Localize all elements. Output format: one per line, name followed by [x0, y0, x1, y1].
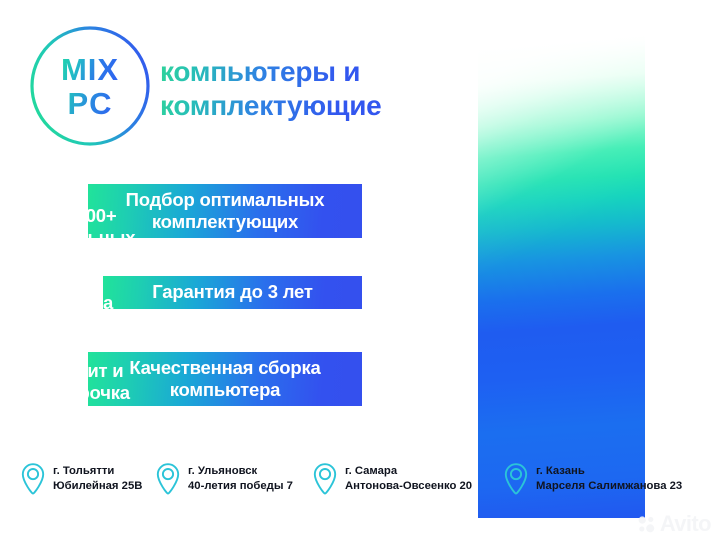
page-title-line2: комплектующие — [160, 89, 470, 123]
map-pin-icon — [503, 462, 529, 496]
location-item-ulyanovsk: г. Ульяновск 40-летия победы 7 — [155, 462, 293, 496]
location-city: г. Казань — [536, 464, 682, 479]
side-panel-item-clients: 10.000+ довольных Клиентов — [0, 205, 167, 270]
side-panel-item-line1: 10.000+ — [51, 205, 117, 226]
feature-banner-line2: комплектующих — [152, 211, 298, 232]
side-panel-item-line2: консультация — [22, 162, 146, 183]
page-title-line1: компьютеры и — [160, 55, 470, 89]
map-pin-icon — [155, 462, 181, 496]
side-panel-item-line1: Услуга — [54, 292, 113, 313]
location-city: г. Ульяновск — [188, 464, 293, 479]
location-address: Юбилейная 25В — [53, 479, 142, 494]
feature-banner-line1: Гарантия до 3 лет — [152, 281, 313, 302]
side-panel — [478, 0, 645, 518]
location-city: г. Тольятти — [53, 464, 142, 479]
side-panel-item-line2: довольных — [32, 227, 136, 248]
location-item-kazan: г. Казань Марселя Салимжанова 23 — [503, 462, 682, 496]
location-text: г. Ульяновск 40-летия победы 7 — [188, 464, 293, 494]
side-panel-item-consultation: Бесплатная консультация — [0, 140, 167, 184]
side-panel-content: Бесплатная консультация 10.000+ довольны… — [0, 0, 167, 518]
side-panel-item-line2: trade-in — [50, 314, 116, 335]
watermark-label: Avito — [660, 513, 711, 535]
location-address: 40-летия победы 7 — [188, 479, 293, 494]
page-title: компьютеры и комплектующие — [160, 55, 470, 123]
side-panel-item-credit: Кредит и рассрочка — [0, 360, 167, 404]
location-city: г. Самара — [345, 464, 472, 479]
feature-banner-line2: компьютера — [170, 379, 281, 400]
location-item-tolyatti: г. Тольятти Юбилейная 25В — [20, 462, 142, 496]
watermark: Avito — [637, 513, 711, 535]
side-panel-item-line3: Клиентов — [41, 249, 127, 270]
location-text: г. Самара Антонова-Овсеенко 20 — [345, 464, 472, 494]
avito-logo-icon — [637, 515, 656, 534]
map-pin-icon — [312, 462, 338, 496]
side-panel-item-line2: рассрочка — [37, 382, 130, 403]
side-panel-item-line1: Кредит и — [44, 360, 124, 381]
location-text: г. Казань Марселя Салимжанова 23 — [536, 464, 682, 494]
location-text: г. Тольятти Юбилейная 25В — [53, 464, 142, 494]
side-panel-item-tradein: Услуга trade-in — [0, 292, 167, 336]
side-panel-item-line1: Бесплатная — [30, 140, 136, 161]
map-pin-icon — [20, 462, 46, 496]
promo-banner: Бесплатная консультация 10.000+ довольны… — [0, 0, 720, 540]
location-address: Антонова-Овсеенко 20 — [345, 479, 472, 494]
location-address: Марселя Салимжанова 23 — [536, 479, 682, 494]
location-item-samara: г. Самара Антонова-Овсеенко 20 — [312, 462, 472, 496]
locations-bar: г. Тольятти Юбилейная 25В г. Ульяновск 4… — [0, 462, 720, 512]
